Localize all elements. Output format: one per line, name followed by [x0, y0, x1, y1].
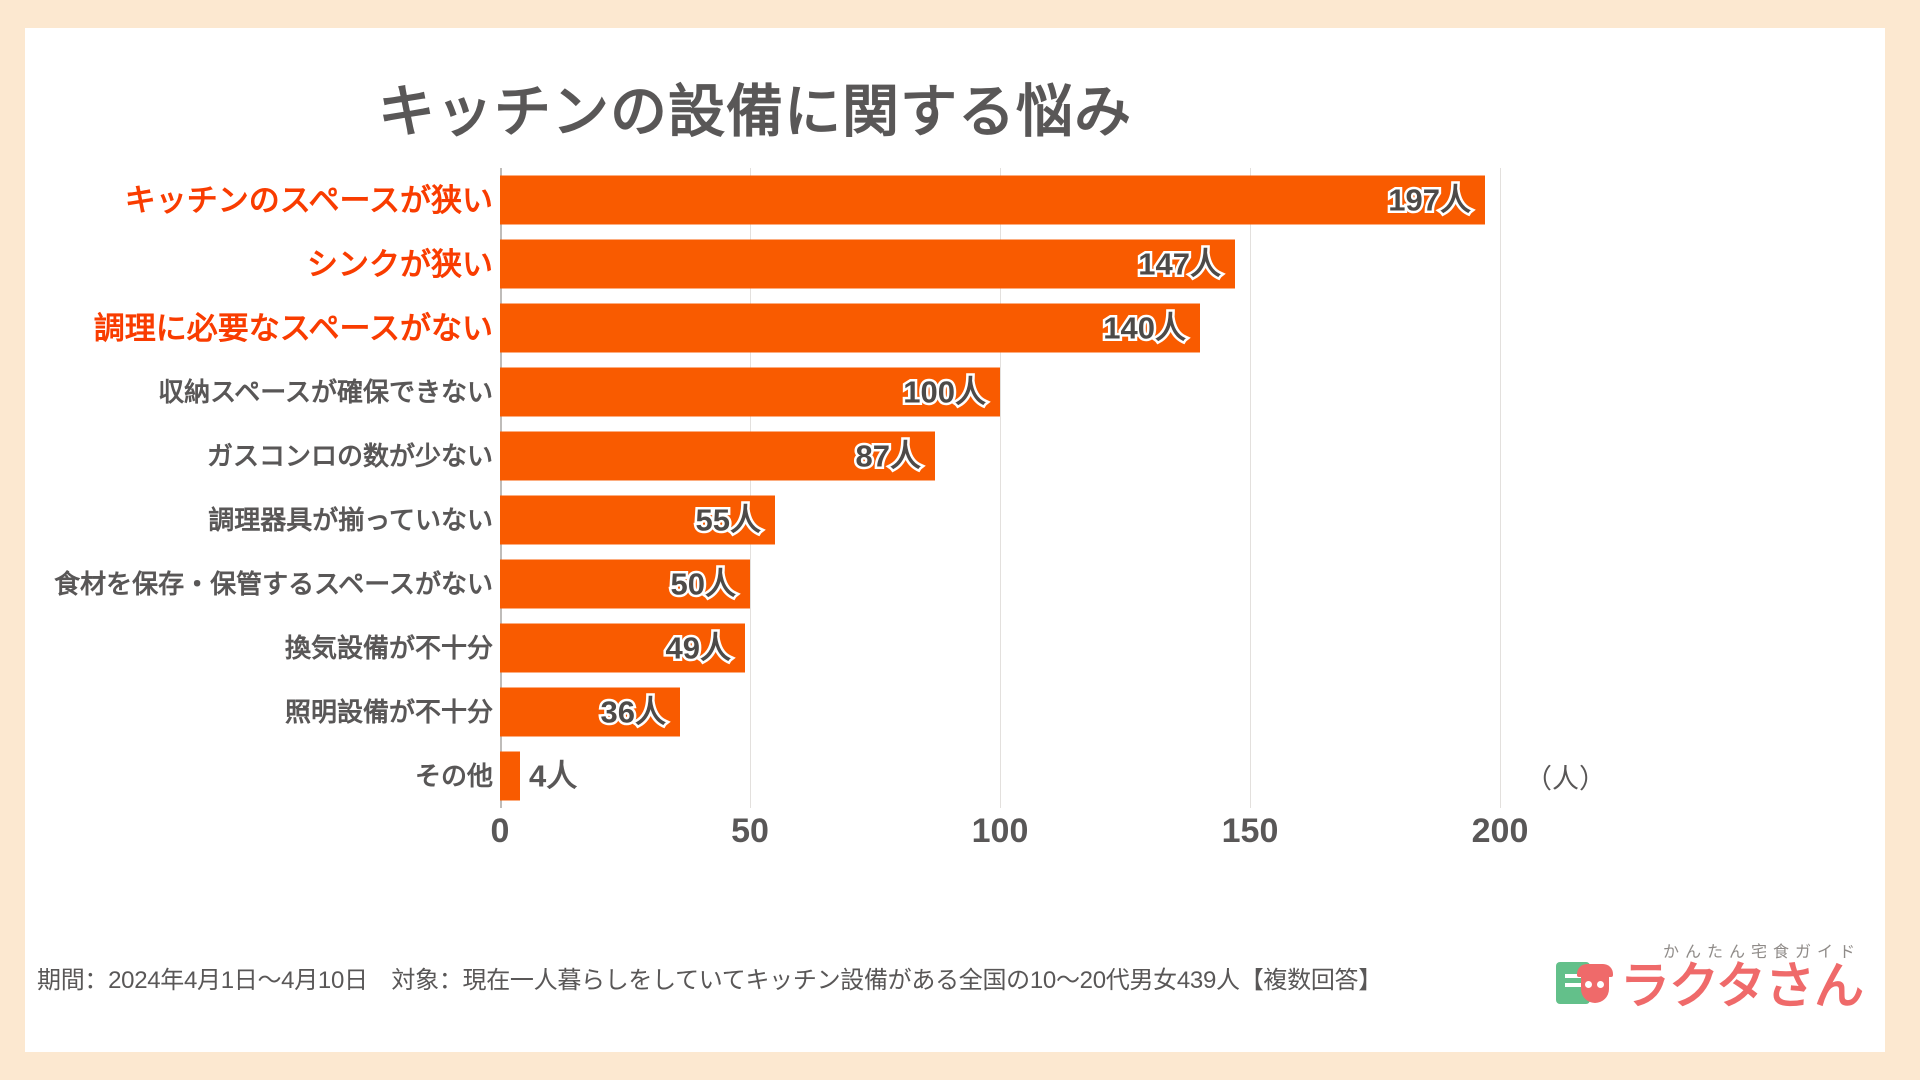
x-tick-100: 100 — [972, 814, 1029, 848]
bar-value-label: 36人 — [601, 697, 666, 728]
category-label: 照明設備が不十分 — [25, 699, 493, 725]
x-tick-0: 0 — [491, 814, 510, 848]
bar-row: 調理器具が揃っていない55人 — [25, 488, 1885, 552]
bar-row: 照明設備が不十分36人 — [25, 680, 1885, 744]
lunchbox-chef-icon — [1556, 958, 1616, 1010]
bar[interactable] — [500, 176, 1485, 225]
bar-row: その他4人 — [25, 744, 1885, 808]
category-label: 調理器具が揃っていない — [25, 507, 493, 533]
x-tick-150: 150 — [1222, 814, 1279, 848]
bar-value-label: 4人 — [529, 761, 577, 792]
category-label: 食材を保存・保管するスペースがない — [25, 571, 493, 597]
bar-row: シンクが狭い147人 — [25, 232, 1885, 296]
category-label: キッチンのスペースが狭い — [25, 185, 493, 216]
plot-area: キッチンのスペースが狭い197人シンクが狭い147人調理に必要なスペースがない1… — [25, 168, 1885, 938]
bar-row: ガスコンロの数が少ない87人 — [25, 424, 1885, 488]
x-axis: （人） 0 50 100 150 200 — [25, 808, 1885, 868]
bar[interactable] — [500, 752, 520, 801]
bar-row: 食材を保存・保管するスペースがない50人 — [25, 552, 1885, 616]
x-tick-200: 200 — [1472, 814, 1529, 848]
bar-value-label: 87人 — [856, 441, 921, 472]
bar-wrapper: 147人 — [500, 240, 1304, 289]
chart-title: キッチンの設備に関する悩み — [25, 66, 1485, 148]
bar-wrapper: 87人 — [500, 432, 986, 481]
category-label: 換気設備が不十分 — [25, 635, 493, 661]
logo-name-main: ラクタ — [1620, 963, 1765, 1011]
bar-wrapper: 197人 — [500, 176, 1554, 225]
bar[interactable] — [500, 240, 1235, 289]
bar-value-label: 100人 — [903, 377, 986, 408]
bar-wrapper: 4人 — [500, 752, 577, 801]
bar-value-label: 50人 — [671, 569, 736, 600]
bar-value-label: 49人 — [666, 633, 731, 664]
bar-rows: キッチンのスペースが狭い197人シンクが狭い147人調理に必要なスペースがない1… — [25, 168, 1885, 808]
bar-wrapper: 49人 — [500, 624, 796, 673]
bar-wrapper: 100人 — [500, 368, 1069, 417]
bar-row: 収納スペースが確保できない100人 — [25, 360, 1885, 424]
category-label: シンクが狭い — [25, 249, 493, 280]
bar-row: 換気設備が不十分49人 — [25, 616, 1885, 680]
bar-value-label: 140人 — [1103, 313, 1186, 344]
bar-value-label: 55人 — [696, 505, 761, 536]
bar-wrapper: 36人 — [500, 688, 731, 737]
category-label: 収納スペースが確保できない — [25, 379, 493, 405]
bar-row: キッチンのスペースが狭い197人 — [25, 168, 1885, 232]
brand-logo: かんたん宅食ガイド ラクタ さん — [1567, 938, 1867, 1026]
bar-wrapper: 140人 — [500, 304, 1269, 353]
logo-wordmark: ラクタ さん — [1556, 958, 1863, 1010]
category-label: ガスコンロの数が少ない — [25, 443, 493, 469]
category-label: その他 — [25, 763, 493, 789]
bar-wrapper: 55人 — [500, 496, 826, 545]
chart-card: キッチンの設備に関する悩み キッチンのスペースが狭い197人シンクが狭い147人… — [25, 28, 1885, 1052]
survey-note: 期間：2024年4月1日～4月10日 対象：現在一人暮らしをしていてキッチン設備… — [37, 960, 1382, 995]
category-label: 調理に必要なスペースがない — [25, 313, 493, 344]
bar[interactable] — [500, 304, 1200, 353]
axis-unit-label: （人） — [1525, 766, 1606, 793]
bar-value-label: 147人 — [1138, 249, 1221, 280]
footer: 期間：2024年4月1日～4月10日 対象：現在一人暮らしをしていてキッチン設備… — [25, 942, 1885, 1016]
bar-value-label: 197人 — [1388, 185, 1471, 216]
bar-wrapper: 50人 — [500, 560, 801, 609]
logo-name-suffix: さん — [1765, 963, 1863, 1011]
x-tick-50: 50 — [731, 814, 769, 848]
bar-row: 調理に必要なスペースがない140人 — [25, 296, 1885, 360]
